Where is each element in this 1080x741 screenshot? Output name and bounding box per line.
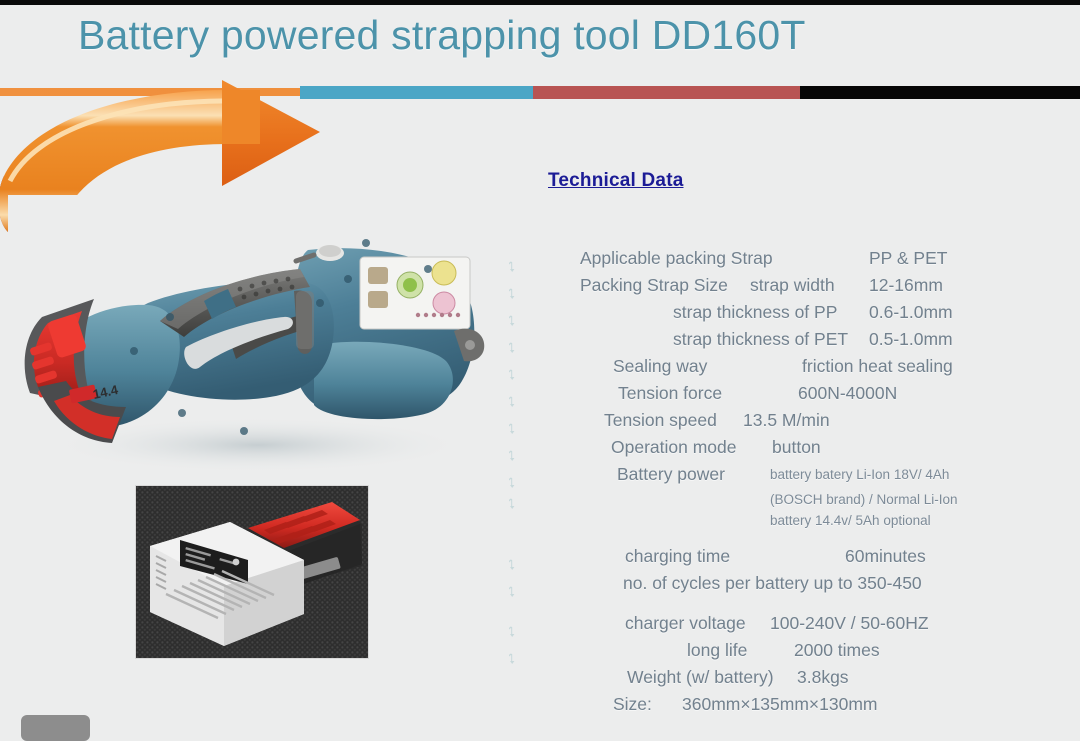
spec-row: strap thickness of PET 0.5-1.0mm <box>506 327 1006 354</box>
curved-arrow-icon <box>506 418 532 435</box>
spec-row: charger voltage 100-240V / 50-60HZ <box>506 611 1006 638</box>
spec-mid: strap width <box>750 273 835 298</box>
charger-photo-image <box>135 485 369 659</box>
bottom-left-chip[interactable] <box>21 715 90 741</box>
spec-value: (BOSCH brand) / Normal Li-Ion <box>770 489 958 510</box>
curved-arrow-icon <box>506 283 532 300</box>
rule-segment-red <box>533 86 800 99</box>
spec-value: 600N-4000N <box>798 381 897 406</box>
spec-value: 60minutes <box>845 544 926 569</box>
curved-arrow-icon <box>506 256 532 273</box>
curved-arrow-icon <box>506 472 532 489</box>
curved-arrow-icon <box>506 310 532 327</box>
spec-label: Tension force <box>618 381 722 406</box>
spec-row: Sealing way friction heat sealing <box>506 354 1006 381</box>
spacer-gap <box>506 531 1006 544</box>
spec-row: Tension speed 13.5 M/min <box>506 408 1006 435</box>
spec-row: charging time 60minutes <box>506 544 1006 571</box>
spec-value: battery 14.4v/ 5Ah optional <box>770 510 931 531</box>
spec-row: Weight (w/ battery) 3.8kgs <box>506 665 1006 692</box>
spec-row: Applicable packing Strap PP & PET <box>506 246 1006 273</box>
spec-mid: strap thickness of PP <box>673 300 837 325</box>
spec-label: Size: <box>613 692 652 717</box>
spec-label: long life <box>687 638 747 663</box>
spec-label: Applicable packing Strap <box>580 246 773 271</box>
curved-arrow-icon <box>506 648 532 665</box>
spec-label: Weight (w/ battery) <box>627 665 774 690</box>
spec-value: 3.8kgs <box>797 665 849 690</box>
spec-label: Tension speed <box>604 408 717 433</box>
spec-value: 0.5-1.0mm <box>869 327 953 352</box>
curved-arrow-icon <box>506 364 532 381</box>
top-black-band <box>0 0 1080 5</box>
curved-arrow-icon <box>506 445 532 462</box>
tool-photo-image: 14.4 <box>8 195 498 485</box>
spec-row: (BOSCH brand) / Normal Li-Ion <box>506 489 1006 510</box>
spec-value: battery batery Li-Ion 18V/ 4Ah <box>770 464 949 485</box>
spec-row: long life 2000 times <box>506 638 1006 665</box>
spec-label: no. of cycles per battery up to 350-450 <box>623 571 922 596</box>
spec-value: 0.6-1.0mm <box>869 300 953 325</box>
curved-arrow-icon <box>506 554 532 571</box>
spec-label: Sealing way <box>613 354 707 379</box>
curved-arrow-icon <box>506 391 532 408</box>
page-title: Battery powered strapping tool DD160T <box>78 12 806 59</box>
spec-row: Tension force 600N-4000N <box>506 381 1006 408</box>
spec-row: battery 14.4v/ 5Ah optional <box>506 510 1006 531</box>
spec-label: Packing Strap Size <box>580 273 728 298</box>
spec-row: Packing Strap Size strap width 12-16mm <box>506 273 1006 300</box>
curved-arrow-icon <box>506 621 532 638</box>
rule-segment-blue <box>300 86 533 99</box>
spec-value: PP & PET <box>869 246 947 271</box>
curved-arrow-icon <box>506 337 532 354</box>
spacer-gap <box>506 598 1006 611</box>
spec-value: 12-16mm <box>869 273 943 298</box>
spec-label: Operation mode <box>611 435 737 460</box>
rule-segment-black <box>800 86 1080 99</box>
technical-data-heading: Technical Data <box>548 170 684 192</box>
spacer <box>506 715 532 719</box>
curved-arrow-icon <box>506 493 532 510</box>
spec-row: strap thickness of PP 0.6-1.0mm <box>506 300 1006 327</box>
spec-label: charger voltage <box>625 611 746 636</box>
specification-list: Applicable packing Strap PP & PET Packin… <box>506 246 1006 719</box>
spec-row: Size: 360mm×135mm×130mm <box>506 692 1006 719</box>
spec-row: no. of cycles per battery up to 350-450 <box>506 571 1006 598</box>
spec-value: 100-240V / 50-60HZ <box>770 611 929 636</box>
spec-row: Battery power battery batery Li-Ion 18V/… <box>506 462 1006 489</box>
spec-mid: strap thickness of PET <box>673 327 848 352</box>
spec-value: 360mm×135mm×130mm <box>682 692 878 717</box>
slide-canvas: Battery powered strapping tool DD160T <box>0 0 1080 732</box>
spec-label: Battery power <box>617 462 725 487</box>
spec-value: friction heat sealing <box>802 354 953 379</box>
spec-value: button <box>772 435 821 460</box>
spec-value: 13.5 M/min <box>743 408 830 433</box>
spec-value: 2000 times <box>794 638 880 663</box>
spec-label: charging time <box>625 544 730 569</box>
spacer <box>506 527 532 531</box>
curved-arrow-icon <box>506 581 532 598</box>
spec-row: Operation mode button <box>506 435 1006 462</box>
